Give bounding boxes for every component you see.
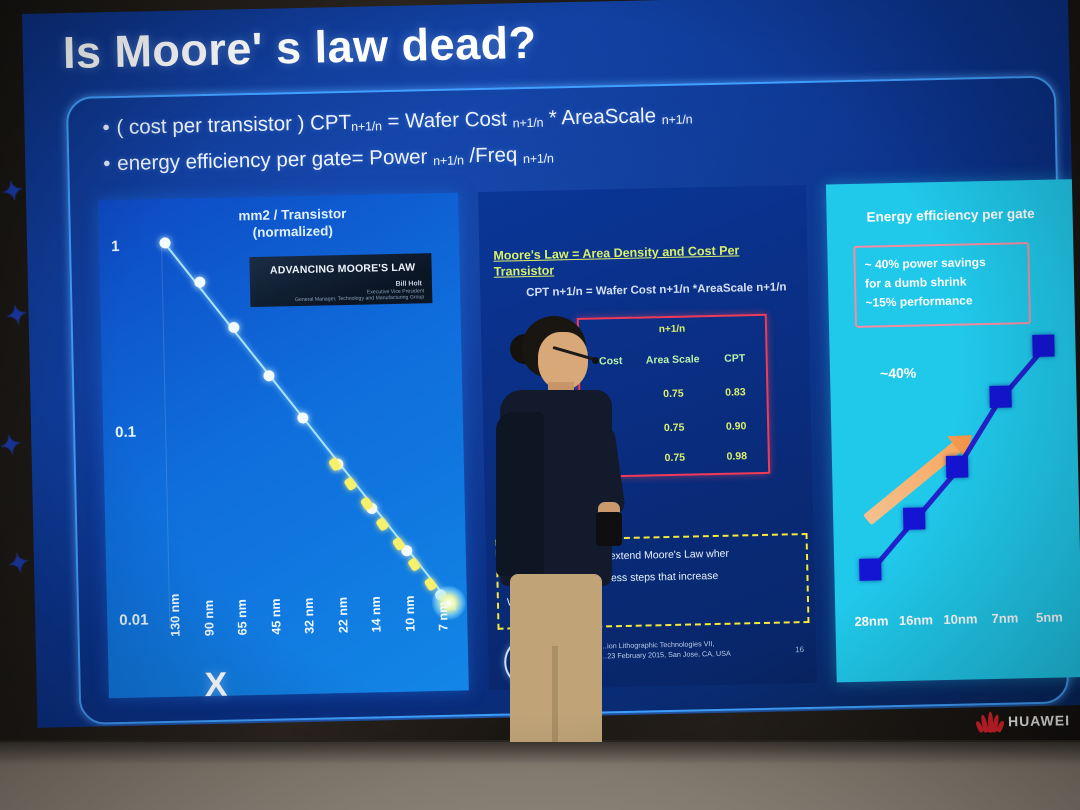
data-point <box>228 321 239 332</box>
data-point <box>1032 335 1054 357</box>
inset-heading: ADVANCING MOORE'S LAW <box>258 261 428 277</box>
laser-pointer-dash <box>376 517 390 532</box>
x-tick-label: 10nm <box>943 611 977 627</box>
presenter-person <box>486 316 632 810</box>
table-cell: 0.83 <box>704 386 766 399</box>
x-tick-label: 90 nm <box>201 600 216 636</box>
callout-text: ~ 40% power savings for a dumb shrink ~1… <box>864 253 986 313</box>
inset-author: Bill Holt <box>395 280 422 288</box>
right-chart-panel: Energy efficiency per gate ~ 40% power s… <box>826 179 1080 682</box>
slide-page-number: 16 <box>795 645 804 654</box>
table-cell: 0.75 <box>644 451 706 464</box>
x-tick-label: 14 nm <box>369 596 384 632</box>
x-tick-label: 32 nm <box>302 598 317 634</box>
power-savings-callout: ~ 40% power savings for a dumb shrink ~1… <box>853 242 1031 328</box>
table-cell: 0.75 <box>643 421 705 434</box>
arrow-percent-label: ~40% <box>880 365 917 382</box>
bullet-dot-icon: • <box>102 112 117 144</box>
x-tick-label: 28nm <box>854 613 888 629</box>
y-tick-1: 1 <box>111 238 120 255</box>
inset-subline: Executive Vice PresidentGeneral Manager,… <box>295 288 425 303</box>
y-tick-0-1: 0.1 <box>115 424 136 441</box>
slide-title: Is Moore' s law dead? <box>62 17 537 79</box>
presenter-clicker <box>596 512 622 546</box>
huawei-logo: HUAWEI <box>977 709 1070 733</box>
middle-panel-equation: CPT n+1/n = Wafer Cost n+1/n *AreaScale … <box>526 281 787 299</box>
middle-panel-heading: Moore's Law = Area Density and Cost Per … <box>493 241 794 280</box>
headset-mic-tip <box>592 357 599 364</box>
x-tick-label: 22 nm <box>335 597 350 633</box>
x-tick-label: 65 nm <box>235 599 250 635</box>
x-tick-label: 45 nm <box>268 598 283 634</box>
right-chart-title: Energy efficiency per gate <box>826 205 1074 225</box>
table-cell: 0.90 <box>705 420 767 433</box>
bullet-dot-icon: • <box>103 148 118 180</box>
photo-scene: ✦ ✦ ✦ ✦ Is Moore' s law dead? •( cost pe… <box>0 0 1080 810</box>
laser-pointer-dash <box>407 557 421 572</box>
left-chart-panel: mm2 / Transistor (normalized) 1 0.1 0.01… <box>98 193 469 699</box>
x-tick-label: 5nm <box>1036 609 1063 625</box>
advancing-moores-law-inset: ADVANCING MOORE'S LAW Bill Holt Executiv… <box>249 253 432 307</box>
table-col-cpt: CPT <box>704 352 766 365</box>
laser-pointer-dash <box>344 476 358 491</box>
data-point <box>946 456 968 478</box>
stage-floor-shadow <box>0 742 1080 764</box>
x-annotation-mark: X <box>204 666 228 705</box>
huawei-flower-icon <box>977 710 1003 732</box>
laser-pointer-dash <box>423 577 437 592</box>
x-tick-label: 7nm <box>991 610 1018 626</box>
data-point <box>989 386 1011 408</box>
shirt-shadow <box>496 412 544 576</box>
table-cell: 0.75 <box>642 387 704 400</box>
x-tick-label: 10 nm <box>402 595 417 631</box>
table-cell: 0.98 <box>706 450 768 463</box>
data-point <box>859 558 881 580</box>
table-col-areascale: Area Scale <box>642 353 704 366</box>
left-chart-title: mm2 / Transistor (normalized) <box>182 204 403 243</box>
data-point <box>902 507 924 529</box>
y-tick-0-01: 0.01 <box>119 611 149 629</box>
plot-left-gridline <box>161 243 170 629</box>
x-tick-label: 16nm <box>899 612 933 628</box>
data-point <box>194 277 205 288</box>
slide-bullet-list: •( cost per transistor ) CPTn+1/n = Wafe… <box>102 99 693 184</box>
x-tick-label: 7 nm <box>436 602 451 631</box>
x-tick-label: 130 nm <box>168 594 183 637</box>
huawei-wordmark: HUAWEI <box>1008 712 1070 729</box>
